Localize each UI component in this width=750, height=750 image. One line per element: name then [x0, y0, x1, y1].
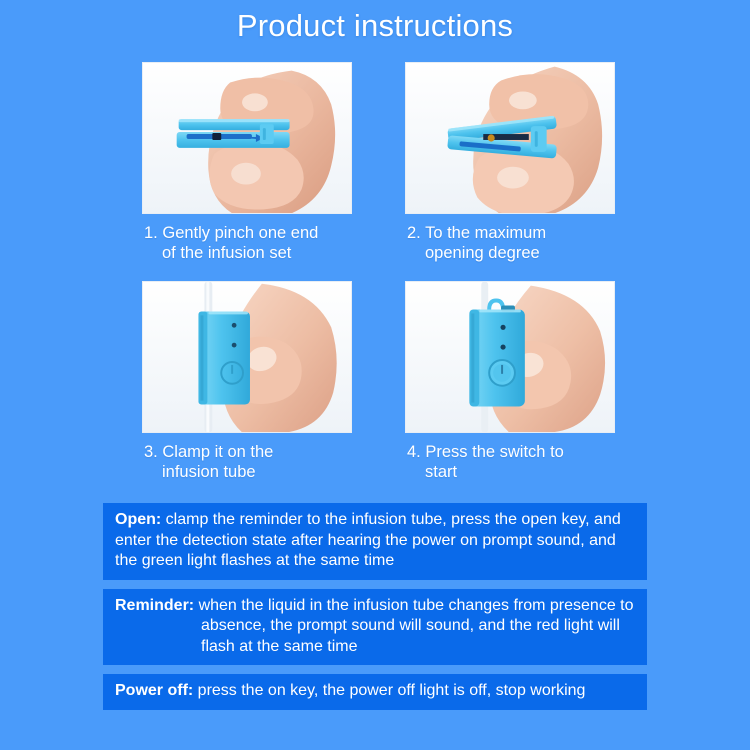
info-box-power-off-label: Power off: — [115, 682, 193, 699]
step-3-number: 3. — [144, 443, 158, 461]
clamp-on-tube-icon — [143, 282, 351, 432]
steps-row-top: 1. Gently pinch one end of the infusion … — [142, 62, 615, 263]
step-2-number: 2. — [407, 224, 421, 242]
steps-grid: 1. Gently pinch one end of the infusion … — [142, 62, 615, 482]
info-box-power-off-paragraph: Power off: press the on key, the power o… — [115, 681, 637, 702]
step-1-text: Gently pinch one end — [162, 224, 318, 242]
steps-row-bottom: 3. Clamp it on the infusion tube — [142, 281, 615, 482]
info-box-reminder-paragraph: Reminder: when the liquid in the infusio… — [115, 596, 637, 658]
step-4-caption: 4. Press the switch to start — [405, 433, 615, 482]
hand-pinching-clamp-icon — [143, 63, 351, 213]
step-2-photo — [405, 62, 615, 214]
page-title: Product instructions — [0, 8, 750, 44]
step-3-caption: 3. Clamp it on the infusion tube — [142, 433, 352, 482]
step-3-text-line2: infusion tube — [144, 462, 352, 482]
info-box-reminder: Reminder: when the liquid in the infusio… — [103, 589, 647, 666]
step-4-text-line2: start — [407, 462, 615, 482]
step-1-text-line2: of the infusion set — [144, 243, 352, 263]
step-2-caption: 2. To the maximum opening degree — [405, 214, 615, 263]
step-4-photo — [405, 281, 615, 433]
pressing-switch-icon — [406, 282, 614, 432]
step-3-text: Clamp it on the — [162, 443, 273, 461]
step-1-photo — [142, 62, 352, 214]
step-4: 4. Press the switch to start — [405, 281, 615, 482]
info-box-open: Open: clamp the reminder to the infusion… — [103, 503, 647, 580]
step-3: 3. Clamp it on the infusion tube — [142, 281, 352, 482]
step-1-number: 1. — [144, 224, 158, 242]
clamp-fully-open-icon — [406, 63, 614, 213]
info-box-open-text: clamp the reminder to the infusion tube,… — [115, 511, 621, 569]
info-box-open-paragraph: Open: clamp the reminder to the infusion… — [115, 510, 637, 572]
info-box-power-off-text: press the on key, the power off light is… — [193, 682, 585, 699]
info-box-reminder-text: when the liquid in the infusion tube cha… — [194, 597, 633, 655]
step-2-text-line2: opening degree — [407, 243, 615, 263]
step-1: 1. Gently pinch one end of the infusion … — [142, 62, 352, 263]
step-4-text: Press the switch to — [425, 443, 563, 461]
info-boxes: Open: clamp the reminder to the infusion… — [103, 503, 647, 719]
info-box-reminder-label: Reminder: — [115, 597, 194, 614]
step-3-photo — [142, 281, 352, 433]
info-box-open-label: Open: — [115, 511, 161, 528]
step-2-text: To the maximum — [425, 224, 546, 242]
info-box-power-off: Power off: press the on key, the power o… — [103, 674, 647, 710]
step-2: 2. To the maximum opening degree — [405, 62, 615, 263]
step-1-caption: 1. Gently pinch one end of the infusion … — [142, 214, 352, 263]
step-4-number: 4. — [407, 443, 421, 461]
